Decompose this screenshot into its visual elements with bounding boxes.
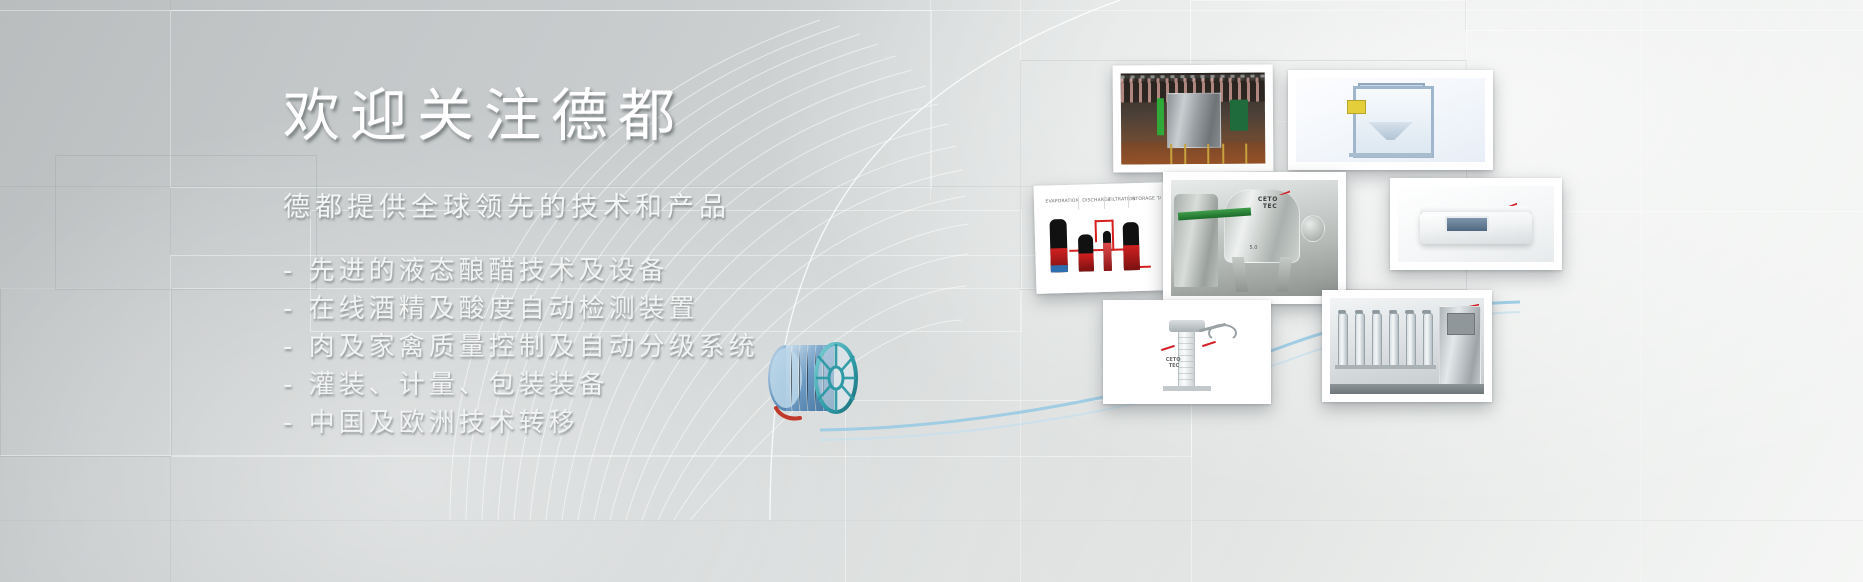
- wire-reel-graphic: [752, 326, 872, 426]
- list-item: - 中国及欧洲技术转移: [283, 407, 1003, 440]
- gallery-item-cad-packaging-machine[interactable]: [1288, 70, 1493, 170]
- diagram-label: STORAGE TANK: [1132, 196, 1163, 202]
- gallery-item-stainless-fermenter[interactable]: CETO TEC 5.0: [1163, 172, 1346, 304]
- gallery-item-membrane-filtration-skid[interactable]: [1322, 290, 1492, 402]
- list-item: - 在线酒精及酸度自动检测装置: [283, 293, 1003, 326]
- hero-banner: 欢迎关注德都 德都提供全球领先的技术和产品 - 先进的液态酿醋技术及设备 - 在…: [0, 0, 1863, 582]
- fermenter-unit-number: 5.0: [1249, 245, 1257, 251]
- photo-glass-column-apparatus: CETO TEC: [1111, 308, 1263, 396]
- feature-list: - 先进的液态酿醋技术及设备 - 在线酒精及酸度自动检测装置 - 肉及家禽质量控…: [283, 255, 1003, 440]
- photo-cad-packaging-machine: [1296, 78, 1485, 162]
- diagram-label: EVAPORATION: [1045, 198, 1079, 204]
- list-item: - 先进的液态酿醋技术及设备: [283, 255, 1003, 288]
- photo-process-flow-diagram: EVAPORATION DISCHARGE FILTRATION STORAGE…: [1042, 190, 1164, 285]
- photo-aceto-scan-instrument: ACETO SCAN: [1398, 186, 1554, 262]
- gallery-item-poultry-processing-line[interactable]: [1113, 64, 1274, 172]
- diagram-label: DISCHARGE: [1082, 197, 1111, 203]
- photo-poultry-processing-line: [1121, 72, 1266, 164]
- fermenter-brand-label: CETO TEC: [1258, 196, 1278, 210]
- gallery-item-process-flow-diagram[interactable]: EVAPORATION DISCHARGE FILTRATION STORAGE…: [1034, 182, 1172, 294]
- gallery-item-glass-column-apparatus[interactable]: CETO TEC: [1103, 300, 1271, 404]
- photo-stainless-fermenter: CETO TEC 5.0: [1171, 180, 1338, 296]
- gallery-item-aceto-scan-instrument[interactable]: ACETO SCAN: [1390, 178, 1562, 270]
- list-item: - 肉及家禽质量控制及自动分级系统: [283, 331, 1003, 364]
- column-brand-label: CETO TEC: [1166, 357, 1181, 369]
- page-title: 欢迎关注德都: [283, 88, 1003, 145]
- list-item: - 灌装、计量、包装装备: [283, 369, 1003, 402]
- page-subtitle: 德都提供全球领先的技术和产品: [283, 185, 1003, 224]
- hero-copy: 欢迎关注德都 德都提供全球领先的技术和产品 - 先进的液态酿醋技术及设备 - 在…: [283, 88, 1003, 456]
- photo-membrane-filtration-skid: [1330, 298, 1484, 394]
